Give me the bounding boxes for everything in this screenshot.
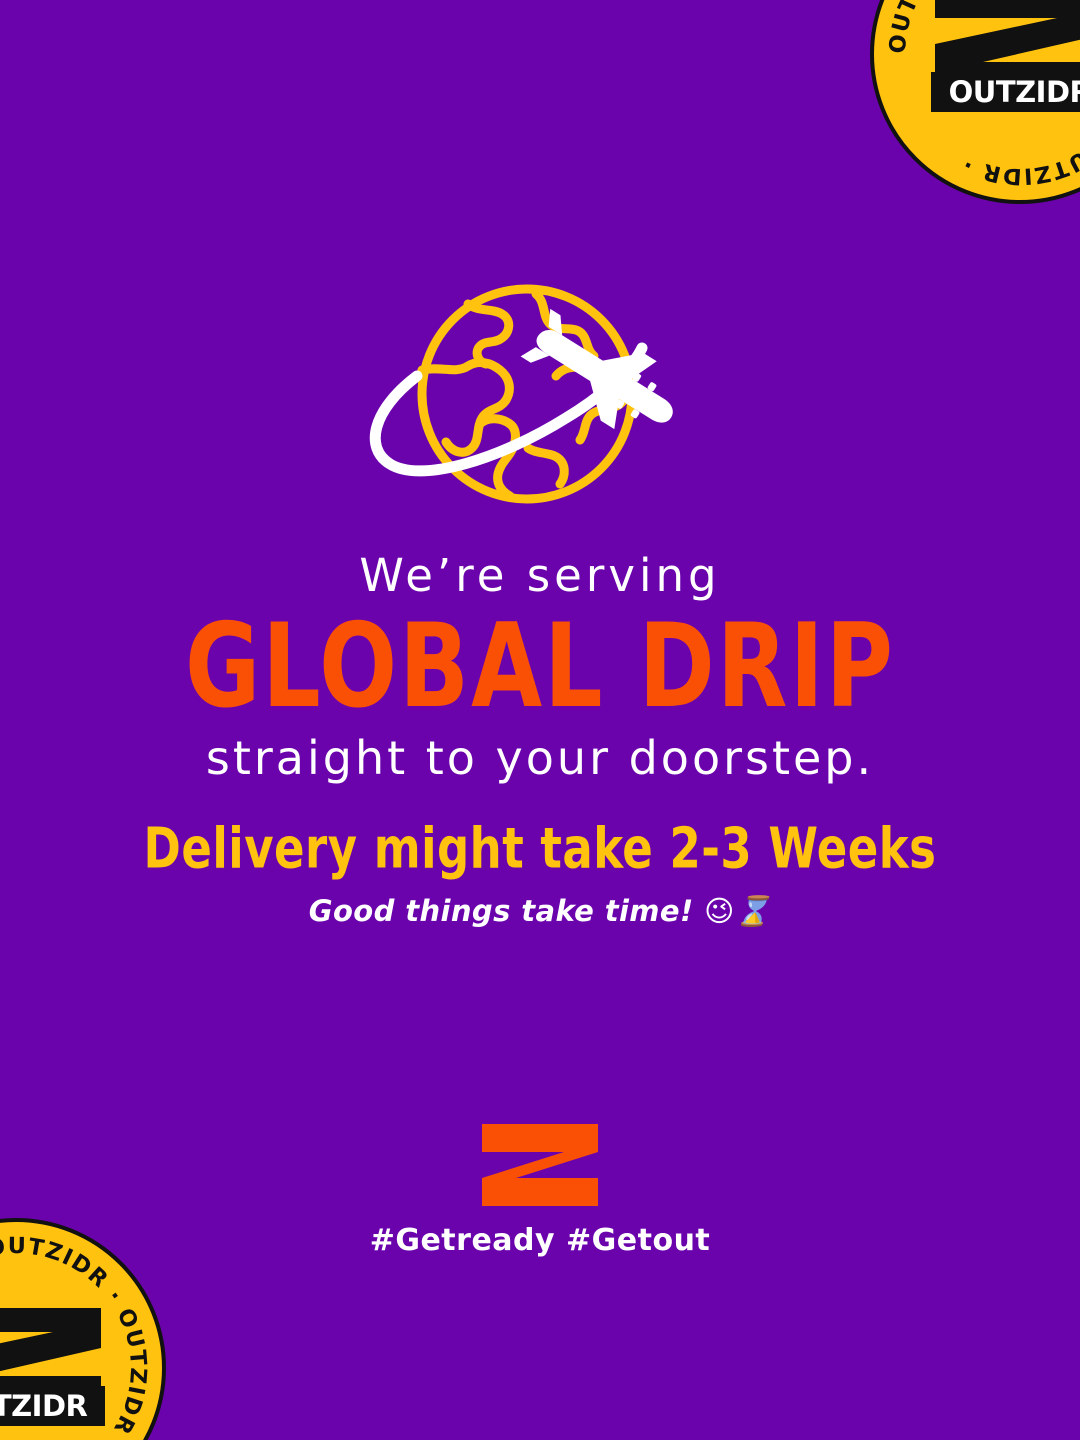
promo-poster: OUTZIDR · OUTZIDR · OUTZIDR · OUTZIDR · … bbox=[0, 0, 1080, 1440]
outzidr-badge-top-right: OUTZIDR · OUTZIDR · OUTZIDR · OUTZIDR · … bbox=[870, 0, 1080, 204]
badge-wordmark-label: OUTZIDR bbox=[0, 1392, 87, 1421]
badge-wordmark-label: OUTZIDR bbox=[949, 78, 1080, 107]
headline-line-3: straight to your doorstep. bbox=[0, 733, 1080, 784]
delivery-subnote-text: Good things take time! 😉⌛ bbox=[0, 894, 1080, 929]
delivery-notice-block: Delivery might take 2-3 Weeks Good thing… bbox=[0, 818, 1080, 929]
footer-hashtags: #Getready #Getout bbox=[0, 1223, 1080, 1258]
delivery-time-text: Delivery might take 2-3 Weeks bbox=[0, 818, 1080, 880]
badge-core-bottom-left: OUTZIDR bbox=[0, 1304, 111, 1432]
headline-block: We’re serving GLOBAL DRIP straight to yo… bbox=[0, 552, 1080, 783]
outzidr-z-logo-icon bbox=[478, 1122, 602, 1208]
footer-logo-block: #Getready #Getout bbox=[0, 1122, 1080, 1258]
headline-line-1: We’re serving bbox=[0, 552, 1080, 601]
badge-core-top-right: OUTZIDR bbox=[925, 0, 1080, 118]
badge-wordmark-bottom-left: OUTZIDR bbox=[0, 1386, 105, 1426]
headline-line-2-global-drip: GLOBAL DRIP bbox=[0, 609, 1080, 725]
badge-wordmark-top-right: OUTZIDR bbox=[931, 72, 1080, 112]
globe-with-airplane-icon bbox=[360, 278, 710, 510]
